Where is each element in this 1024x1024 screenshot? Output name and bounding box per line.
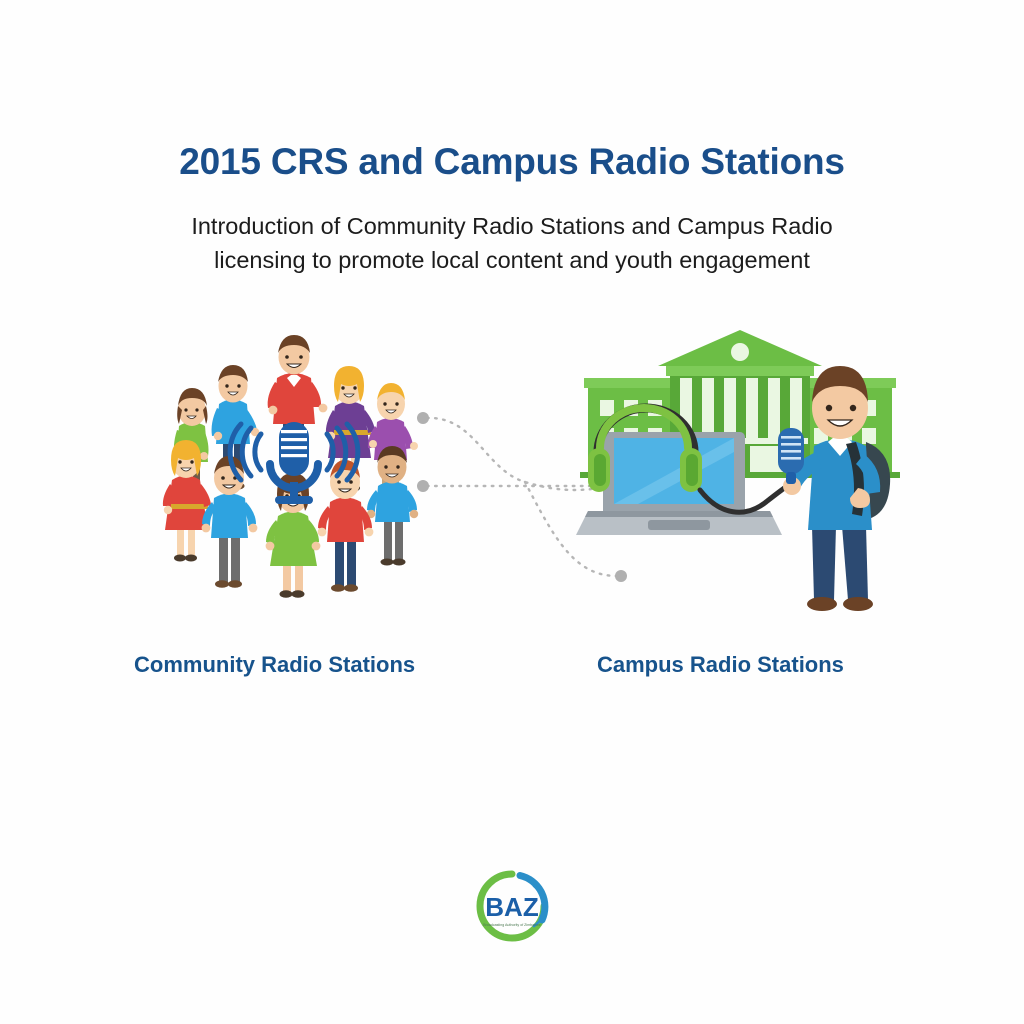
- slide-footer: BAZ Broadcasting Authority of Zimbabwe: [0, 866, 1024, 951]
- page-title: 2015 CRS and Campus Radio Stations: [0, 142, 1024, 183]
- campus-illustration: [570, 330, 910, 620]
- baz-logo-text: BAZ: [485, 892, 539, 922]
- illustration-stage: [0, 330, 1024, 640]
- illustration-captions: Community Radio Stations Campus Radio St…: [0, 652, 1024, 686]
- baz-logo-icon: BAZ Broadcasting Authority of Zimbabwe: [464, 866, 560, 946]
- page-subtitle: Introduction of Community Radio Stations…: [132, 209, 892, 277]
- baz-logo: BAZ Broadcasting Authority of Zimbabwe: [464, 866, 560, 946]
- slide-header: 2015 CRS and Campus Radio Stations Intro…: [0, 142, 1024, 277]
- campus-building-laptop-student-icon: [570, 330, 910, 620]
- caption-campus-radio-stations: Campus Radio Stations: [597, 652, 844, 678]
- subtitle-line-1: Introduction of Community Radio Stations…: [132, 209, 892, 243]
- caption-community-radio-stations: Community Radio Stations: [134, 652, 415, 678]
- person-left-lower: [163, 440, 217, 562]
- subtitle-line-2: licensing to promote local content and y…: [132, 243, 892, 277]
- slide-canvas: 2015 CRS and Campus Radio Stations Intro…: [0, 0, 1024, 1024]
- baz-logo-tagline: Broadcasting Authority of Zimbabwe: [483, 923, 541, 927]
